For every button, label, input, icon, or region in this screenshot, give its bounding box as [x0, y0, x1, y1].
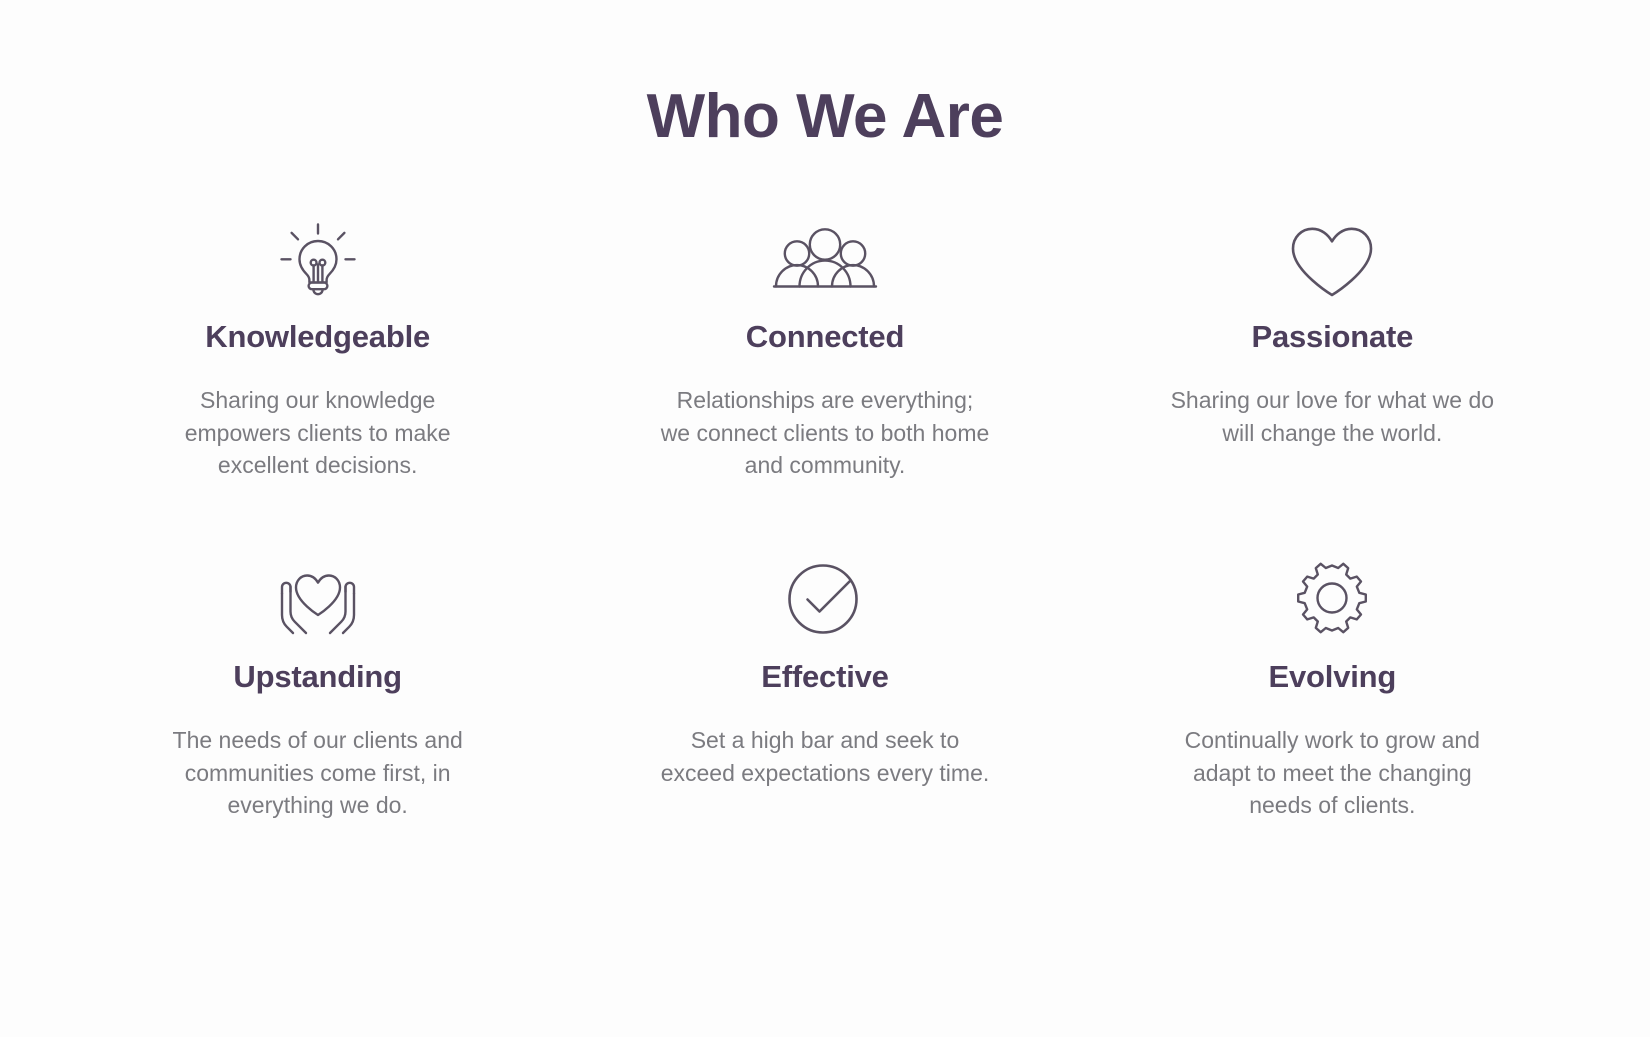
value-description: The needs of our clients and communities…: [153, 724, 483, 822]
value-title: Passionate: [1251, 320, 1413, 354]
value-card-upstanding: Upstanding The needs of our clients and …: [64, 550, 571, 822]
value-description: Continually work to grow and adapt to me…: [1167, 724, 1497, 822]
value-description: Sharing our love for what we do will cha…: [1167, 384, 1497, 449]
page-title: Who We Are: [0, 0, 1650, 148]
heart-icon: [1286, 214, 1378, 310]
value-description: Sharing our knowledge empowers clients t…: [153, 384, 483, 482]
value-title: Connected: [746, 320, 904, 354]
who-we-are-page: Who We Are: [0, 0, 1650, 1037]
lightbulb-icon: [275, 214, 361, 310]
value-description: Relationships are everything; we connect…: [660, 384, 990, 482]
value-title: Knowledgeable: [205, 320, 430, 354]
value-card-effective: Effective Set a high bar and seek to exc…: [571, 550, 1078, 822]
hands-holding-heart-icon: [268, 550, 368, 646]
value-card-knowledgeable: Knowledgeable Sharing our knowledge empo…: [64, 214, 571, 482]
gear-icon: [1288, 550, 1376, 646]
value-card-evolving: Evolving Continually work to grow and ad…: [1079, 550, 1586, 822]
people-group-icon: [765, 214, 885, 310]
value-title: Evolving: [1269, 660, 1397, 694]
value-card-connected: Connected Relationships are everything; …: [571, 214, 1078, 482]
value-title: Upstanding: [233, 660, 402, 694]
check-circle-icon: [781, 550, 869, 646]
value-card-passionate: Passionate Sharing our love for what we …: [1079, 214, 1586, 482]
value-description: Set a high bar and seek to exceed expect…: [660, 724, 990, 789]
value-title: Effective: [761, 660, 888, 694]
values-grid: Knowledgeable Sharing our knowledge empo…: [0, 214, 1650, 822]
